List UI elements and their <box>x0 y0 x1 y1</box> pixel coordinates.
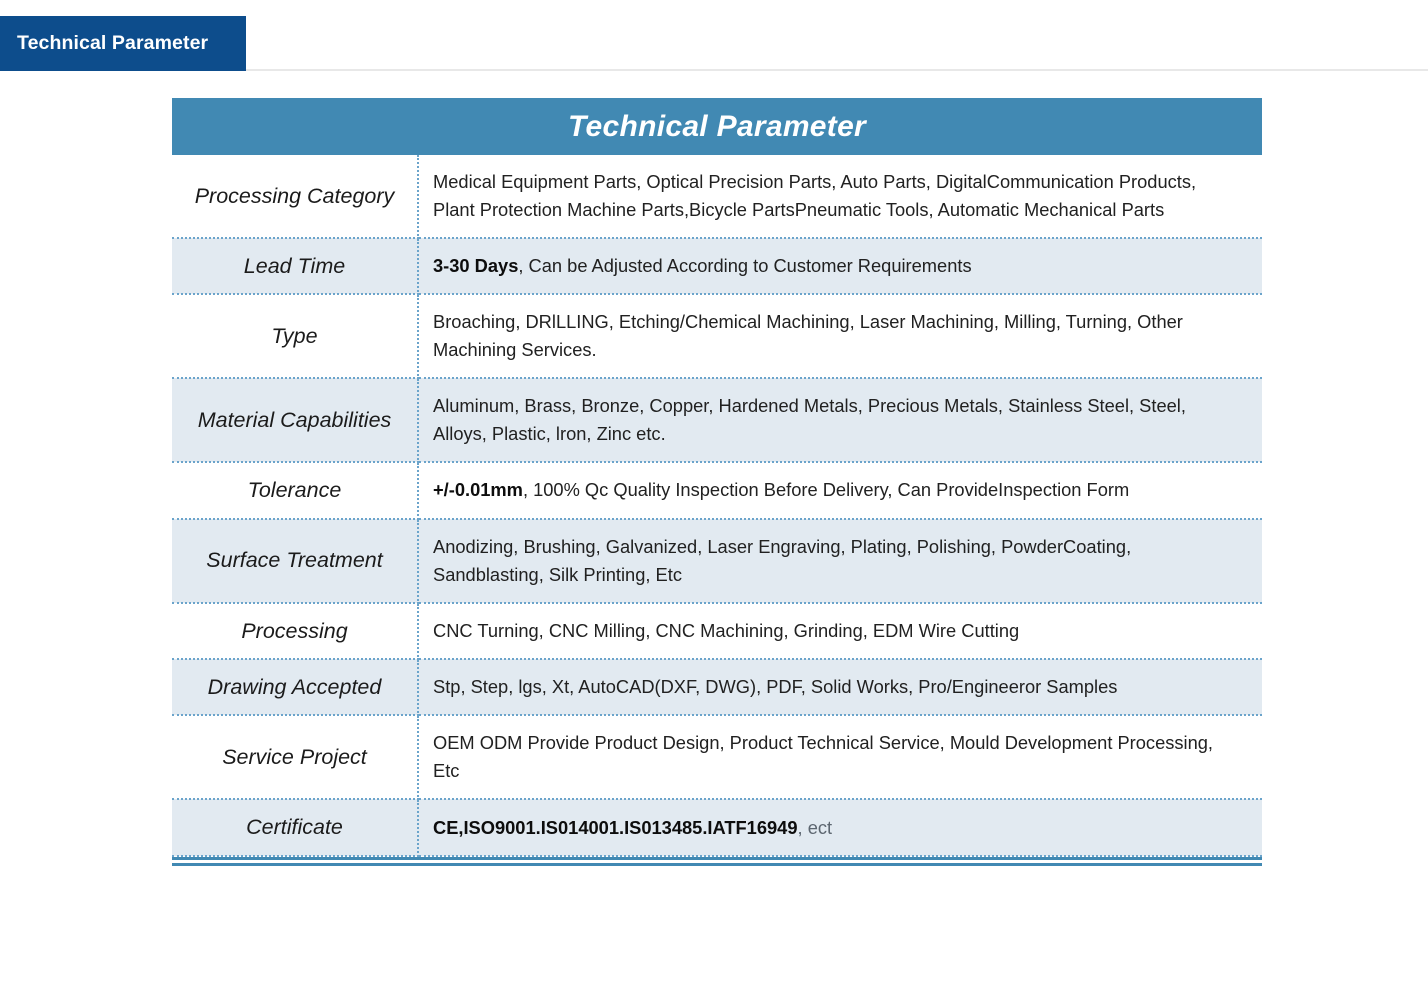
parameter-value: Anodizing, Brushing, Galvanized, Laser E… <box>418 519 1262 603</box>
table-row: CertificateCE,ISO9001.IS014001.IS013485.… <box>172 799 1262 855</box>
parameter-label: Surface Treatment <box>172 519 418 603</box>
table-title: Technical Parameter <box>172 98 1262 155</box>
parameter-value-text: Broaching, DRlLLING, Etching/Chemical Ma… <box>433 311 1183 360</box>
parameter-value: Broaching, DRlLLING, Etching/Chemical Ma… <box>418 294 1262 378</box>
parameter-value-text: Anodizing, Brushing, Galvanized, Laser E… <box>433 536 1131 585</box>
parameter-value: CE,ISO9001.IS014001.IS013485.IATF16949, … <box>418 799 1262 855</box>
parameter-value-text: , 100% Qc Quality Inspection Before Deli… <box>523 479 1129 500</box>
parameter-value-text: Aluminum, Brass, Bronze, Copper, Hardene… <box>433 395 1186 444</box>
parameter-label: Certificate <box>172 799 418 855</box>
tab-technical-parameter[interactable]: Technical Parameter <box>0 16 246 71</box>
parameter-value-text: Medical Equipment Parts, Optical Precisi… <box>433 171 1196 220</box>
table-row: Processing CategoryMedical Equipment Par… <box>172 155 1262 238</box>
parameter-value: Medical Equipment Parts, Optical Precisi… <box>418 155 1262 238</box>
tab-label: Technical Parameter <box>17 32 208 55</box>
parameter-label: Lead Time <box>172 238 418 294</box>
table-row: TypeBroaching, DRlLLING, Etching/Chemica… <box>172 294 1262 378</box>
table-row: Surface TreatmentAnodizing, Brushing, Ga… <box>172 519 1262 603</box>
parameter-value: Stp, Step, lgs, Xt, AutoCAD(DXF, DWG), P… <box>418 659 1262 715</box>
table-row: Service ProjectOEM ODM Provide Product D… <box>172 715 1262 799</box>
parameter-label: Processing Category <box>172 155 418 238</box>
tab-bar: Technical Parameter <box>0 0 1428 71</box>
parameter-value-muted: , ect <box>798 817 833 838</box>
parameter-label: Tolerance <box>172 462 418 518</box>
parameter-value-text: OEM ODM Provide Product Design, Product … <box>433 732 1213 781</box>
technical-parameter-table-container: Technical Parameter Processing CategoryM… <box>172 98 1262 857</box>
table-row: Lead Time3-30 Days, Can be Adjusted Acco… <box>172 238 1262 294</box>
table-bottom-double-rule <box>172 857 1262 866</box>
table-row: Drawing AcceptedStp, Step, lgs, Xt, Auto… <box>172 659 1262 715</box>
parameter-label: Drawing Accepted <box>172 659 418 715</box>
table-row: Material CapabilitiesAluminum, Brass, Br… <box>172 378 1262 462</box>
table-head: Technical Parameter <box>172 98 1262 155</box>
table-row: ProcessingCNC Turning, CNC Milling, CNC … <box>172 603 1262 659</box>
parameter-value-text: , Can be Adjusted According to Customer … <box>518 255 971 276</box>
parameter-value: CNC Turning, CNC Milling, CNC Machining,… <box>418 603 1262 659</box>
parameter-label: Material Capabilities <box>172 378 418 462</box>
parameter-label: Service Project <box>172 715 418 799</box>
parameter-value-bold: +/-0.01mm <box>433 479 523 500</box>
table-body: Processing CategoryMedical Equipment Par… <box>172 155 1262 856</box>
table-header-row: Technical Parameter <box>172 98 1262 155</box>
technical-parameter-table: Technical Parameter Processing CategoryM… <box>172 98 1262 857</box>
table-row: Tolerance+/-0.01mm, 100% Qc Quality Insp… <box>172 462 1262 518</box>
parameter-value-text: CNC Turning, CNC Milling, CNC Machining,… <box>433 620 1019 641</box>
parameter-value-bold: 3-30 Days <box>433 255 518 276</box>
parameter-label: Processing <box>172 603 418 659</box>
parameter-label: Type <box>172 294 418 378</box>
parameter-value: Aluminum, Brass, Bronze, Copper, Hardene… <box>418 378 1262 462</box>
table-bottom-rule-upper <box>172 857 1262 860</box>
parameter-value: +/-0.01mm, 100% Qc Quality Inspection Be… <box>418 462 1262 518</box>
parameter-value-text: Stp, Step, lgs, Xt, AutoCAD(DXF, DWG), P… <box>433 676 1117 697</box>
parameter-value: OEM ODM Provide Product Design, Product … <box>418 715 1262 799</box>
parameter-value: 3-30 Days, Can be Adjusted According to … <box>418 238 1262 294</box>
parameter-value-bold: CE,ISO9001.IS014001.IS013485.IATF16949 <box>433 817 798 838</box>
table-bottom-rule-lower <box>172 863 1262 866</box>
